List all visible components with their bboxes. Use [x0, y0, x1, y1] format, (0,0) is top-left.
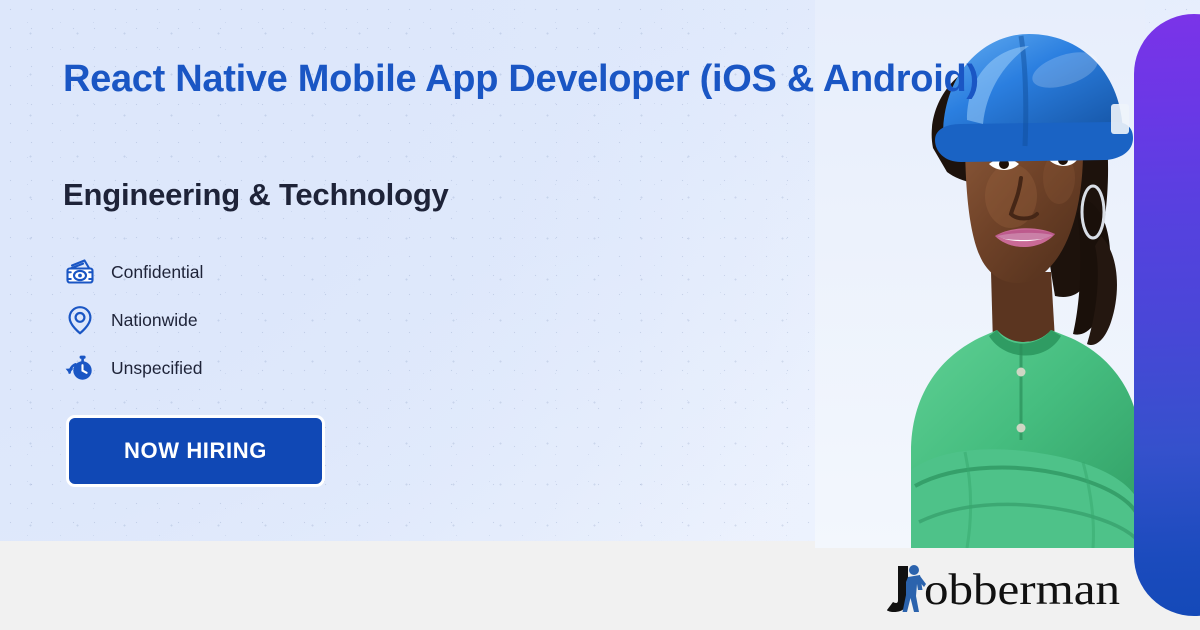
job-meta-list: Confidential Nationwide: [62, 250, 203, 394]
location-pin-icon: [62, 302, 98, 338]
meta-label-salary: Confidential: [111, 262, 203, 283]
cash-icon: [62, 254, 98, 290]
stopwatch-icon: [62, 350, 98, 386]
meta-row-job-type: Unspecified: [62, 346, 203, 390]
decorative-gradient-panel: [1134, 14, 1200, 616]
meta-label-job-type: Unspecified: [111, 358, 202, 379]
job-posting-banner: React Native Mobile App Developer (iOS &…: [0, 0, 1200, 630]
svg-text:obberman: obberman: [924, 565, 1120, 614]
meta-row-location: Nationwide: [62, 298, 203, 342]
job-category: Engineering & Technology: [63, 177, 449, 213]
meta-row-salary: Confidential: [62, 250, 203, 294]
jobberman-logo[interactable]: obberman: [884, 562, 1124, 614]
job-title: React Native Mobile App Developer (iOS &…: [63, 57, 1200, 102]
meta-label-location: Nationwide: [111, 310, 198, 331]
now-hiring-button[interactable]: NOW HIRING: [66, 415, 325, 487]
